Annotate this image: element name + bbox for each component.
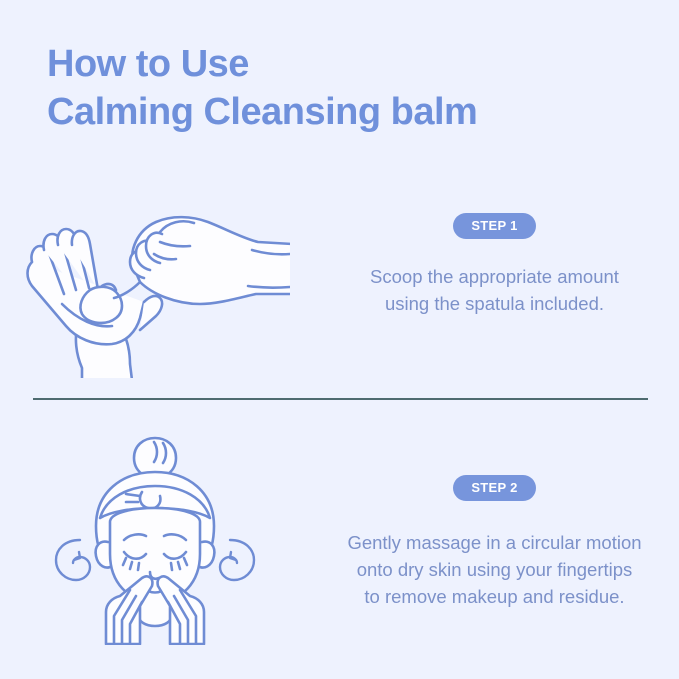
- step-2-description: Gently massage in a circular motion onto…: [347, 529, 641, 610]
- section-divider: [33, 398, 648, 400]
- hands-scooping-balm-with-spatula-icon: [20, 198, 290, 378]
- step-1-description-line-1: Scoop the appropriate amount: [370, 263, 619, 290]
- step-section-2: STEP 2 Gently massage in a circular moti…: [0, 425, 679, 650]
- page-title-line-1: How to Use: [47, 40, 647, 88]
- step-2-illustration-container: [0, 425, 310, 650]
- step-1-description-line-2: using the spatula included.: [370, 290, 619, 317]
- step-2-text-container: STEP 2 Gently massage in a circular moti…: [310, 425, 679, 610]
- step-2-badge: STEP 2: [453, 475, 535, 501]
- step-section-1: STEP 1 Scoop the appropriate amount usin…: [0, 190, 679, 385]
- step-1-badge: STEP 1: [453, 213, 535, 239]
- step-2-description-line-1: Gently massage in a circular motion: [347, 529, 641, 556]
- face-massage-with-fingertips-icon: [50, 430, 260, 645]
- page-title-line-2: Calming Cleansing balm: [47, 88, 647, 136]
- step-1-description: Scoop the appropriate amount using the s…: [370, 263, 619, 317]
- step-2-description-line-2: onto dry skin using your fingertips: [347, 556, 641, 583]
- step-1-text-container: STEP 1 Scoop the appropriate amount usin…: [310, 190, 679, 317]
- page-title: How to Use Calming Cleansing balm: [47, 40, 647, 136]
- step-1-illustration-container: [0, 190, 310, 385]
- step-2-description-line-3: to remove makeup and residue.: [347, 583, 641, 610]
